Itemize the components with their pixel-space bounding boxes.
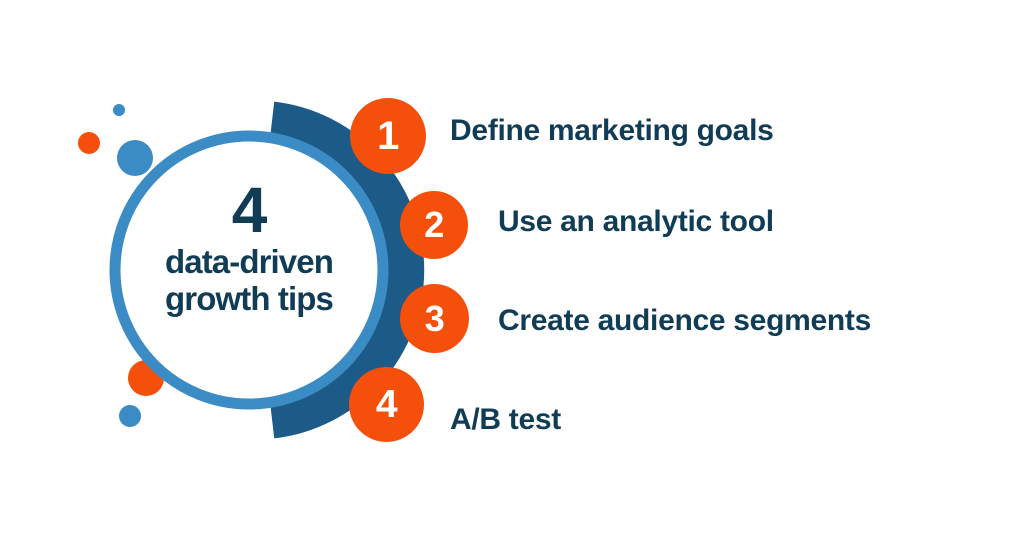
tip-badge-3[interactable]: 3 bbox=[400, 284, 469, 353]
tip-badge-1[interactable]: 1 bbox=[350, 98, 426, 174]
tip-label-2: Use an analytic tool bbox=[498, 207, 774, 237]
tip-badge-4-number: 4 bbox=[376, 385, 397, 424]
tip-badge-4[interactable]: 4 bbox=[349, 367, 424, 442]
tip-badge-3-number: 3 bbox=[425, 301, 445, 337]
circle-graphic bbox=[0, 0, 1024, 538]
blue-ring bbox=[115, 136, 383, 404]
tip-label-4: A/B test bbox=[450, 405, 561, 435]
tip-badge-1-number: 1 bbox=[377, 116, 399, 156]
tip-label-1: Define marketing goals bbox=[450, 116, 774, 146]
tip-badge-2-number: 2 bbox=[424, 207, 444, 243]
tip-badge-2[interactable]: 2 bbox=[400, 191, 468, 259]
infographic-canvas: 4 data-driven growth tips 1 Define marke… bbox=[0, 0, 1024, 538]
tip-label-3: Create audience segments bbox=[498, 306, 871, 336]
